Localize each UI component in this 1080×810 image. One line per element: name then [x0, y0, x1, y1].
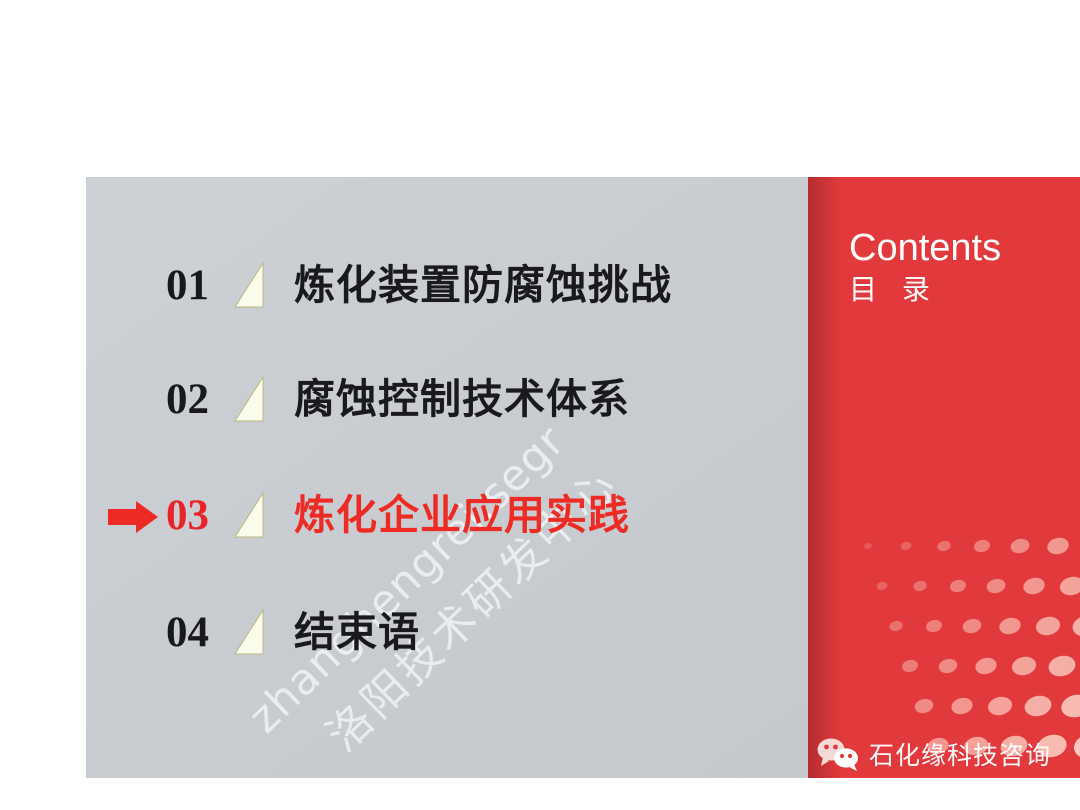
triangle-bullet-icon	[234, 492, 264, 538]
wechat-account-name: 石化缘科技咨询	[869, 736, 1051, 772]
toc-item-02[interactable]: 02 腐蚀控制技术体系	[104, 364, 630, 434]
toc-item-04[interactable]: 04 结束语	[104, 597, 420, 667]
toc-marker-slot-04	[104, 606, 166, 658]
triangle-bullet-icon	[234, 376, 264, 422]
contents-sidebar: Contents 目 录 石化缘科技咨询	[808, 177, 1080, 778]
toc-number-03: 03	[166, 494, 232, 537]
triangle-bullet-icon	[234, 262, 264, 308]
toc-number-02: 02	[166, 378, 232, 421]
wechat-icon	[816, 737, 862, 771]
triangle-bullet-icon	[234, 609, 264, 655]
toc-label-04: 结束语	[294, 612, 420, 653]
right-arrow-icon	[108, 501, 158, 533]
toc-marker-slot-03	[104, 489, 166, 541]
toc-panel: zhanghengrei.segr 洛阳技术研发中心 01 炼化装置防腐蚀挑战 …	[86, 177, 808, 778]
toc-label-03: 炼化企业应用实践	[294, 495, 630, 536]
toc-number-01: 01	[166, 264, 232, 307]
toc-marker-slot-01	[104, 259, 166, 311]
contents-title-cn: 目 录	[849, 275, 1079, 306]
toc-marker-slot-02	[104, 373, 166, 425]
contents-title-en: Contents	[849, 229, 1079, 267]
toc-number-04: 04	[166, 611, 232, 654]
toc-list: 01 炼化装置防腐蚀挑战 02 腐蚀控制技术体系	[86, 177, 808, 778]
toc-label-01: 炼化装置防腐蚀挑战	[294, 265, 672, 306]
wechat-account-badge[interactable]: 石化缘科技咨询	[816, 736, 1051, 772]
slide-canvas: zhanghengrei.segr 洛阳技术研发中心 01 炼化装置防腐蚀挑战 …	[0, 0, 1080, 810]
toc-item-03[interactable]: 03 炼化企业应用实践	[104, 480, 630, 550]
sidebar-title-block: Contents 目 录	[849, 229, 1079, 306]
toc-item-01[interactable]: 01 炼化装置防腐蚀挑战	[104, 250, 672, 320]
toc-label-02: 腐蚀控制技术体系	[294, 379, 630, 420]
